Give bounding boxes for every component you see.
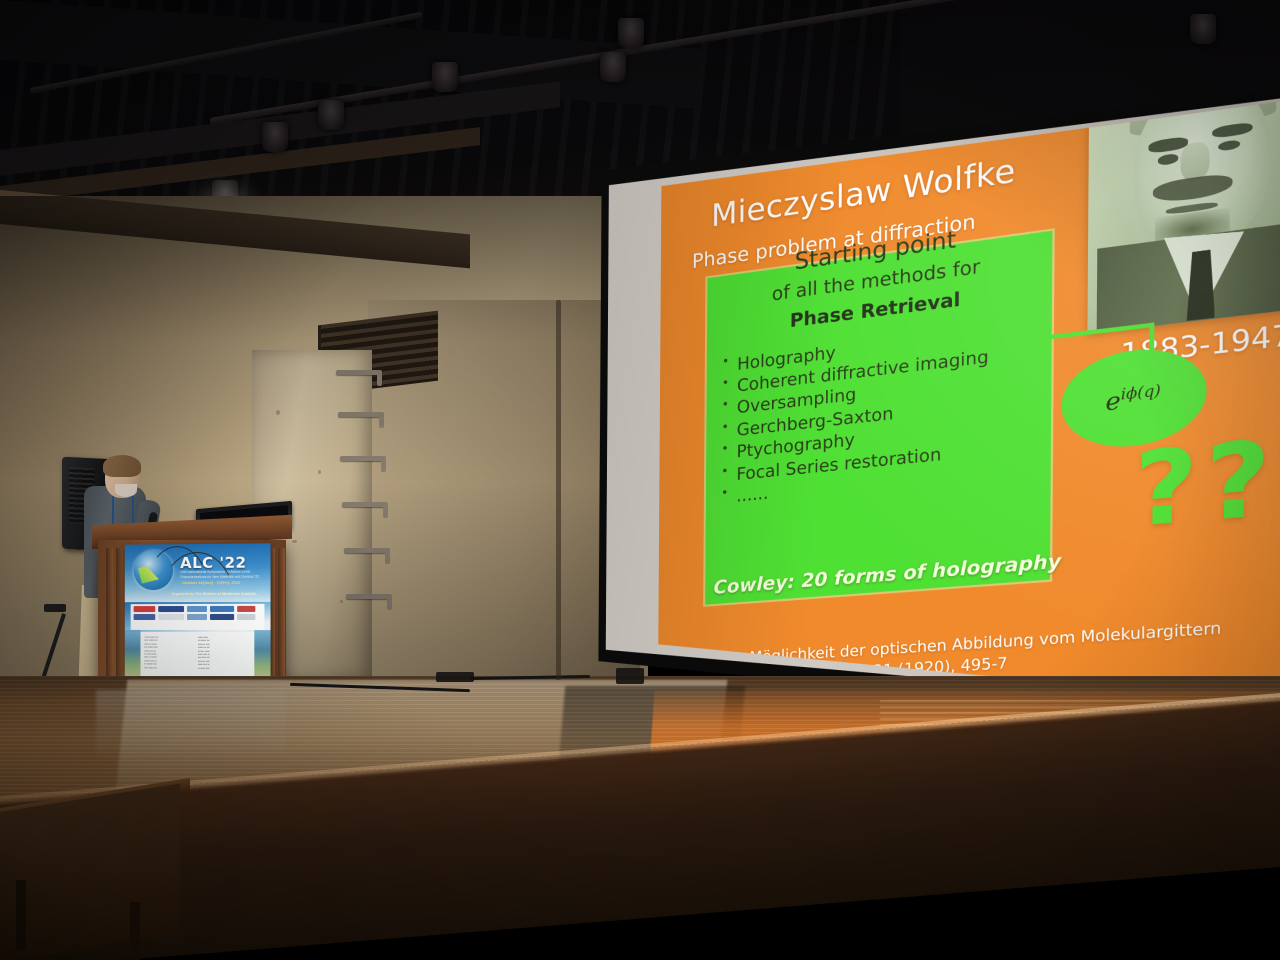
sponsor-chip <box>210 606 234 612</box>
formula-exponent: iϕ(q) <box>1121 382 1161 404</box>
lectern-slat <box>106 548 113 690</box>
stage-spotlight <box>262 122 288 152</box>
presenter-hair <box>103 455 141 477</box>
sponsor-chip <box>134 614 156 620</box>
front-rail-leg <box>16 880 26 950</box>
sponsor-chip <box>158 614 184 620</box>
sponsor-chip <box>210 614 234 620</box>
sponsor-chip <box>187 614 207 620</box>
green-box-footer: Cowley: 20 forms of holography <box>714 550 1062 599</box>
sponsor-chip <box>187 606 207 612</box>
stage-spotlight <box>618 18 644 48</box>
green-content-box: Starting point of all the methods for Ph… <box>705 231 1051 604</box>
photo-scene: ALC '22 13th International Symposium on … <box>0 0 1280 960</box>
phase-retrieval-method-list: Holography Coherent diffractive imaging … <box>719 315 1051 509</box>
question-marks: ?? <box>1134 432 1279 538</box>
floor-equipment <box>436 672 474 682</box>
sponsor-chip <box>158 606 184 612</box>
stage-spotlight <box>432 62 458 92</box>
speaker-stand-clamp <box>44 604 66 612</box>
presenter-beard <box>115 484 137 497</box>
sponsor-chip <box>134 606 156 612</box>
sponsor-chip <box>237 606 255 612</box>
conference-poster: ALC '22 13th International Symposium on … <box>125 543 271 696</box>
lectern-slat <box>116 548 123 690</box>
stage-spotlight <box>1190 14 1216 44</box>
floor-equipment <box>616 668 644 684</box>
phase-factor-formula: eiϕ(q) <box>1105 382 1161 417</box>
projection-screen: Mieczyslaw Wolfke Phase problem at diffr… <box>590 77 1280 760</box>
poster-text-column-left: ▪ ▪▪▪▪ ▪▪▪▪▪ ▪▪▪▪▪▪▪ ▪▪▪▪▪▪ ▪▪▪▪▪▪▪▪ ▪▪ … <box>144 636 192 670</box>
front-rail <box>0 783 180 960</box>
front-rail-leg <box>130 902 140 960</box>
poster-sponsor-logos <box>131 604 265 630</box>
lectern-slat <box>278 548 285 690</box>
stage-spotlight <box>600 52 626 82</box>
sponsor-chip <box>237 614 255 620</box>
arrow-head-icon <box>1030 330 1044 347</box>
hanging-cable <box>556 300 561 680</box>
poster-text-column-right: ▪▪▪▪▪ ▪▪▪▪▪▪▪ ▪▪▪▪▪▪ ▪▪▪▪▪▪▪ ▪▪▪ ▪▪▪▪▪▪▪… <box>198 636 248 670</box>
stage-spotlight <box>318 100 344 130</box>
formula-base: e <box>1105 387 1120 416</box>
